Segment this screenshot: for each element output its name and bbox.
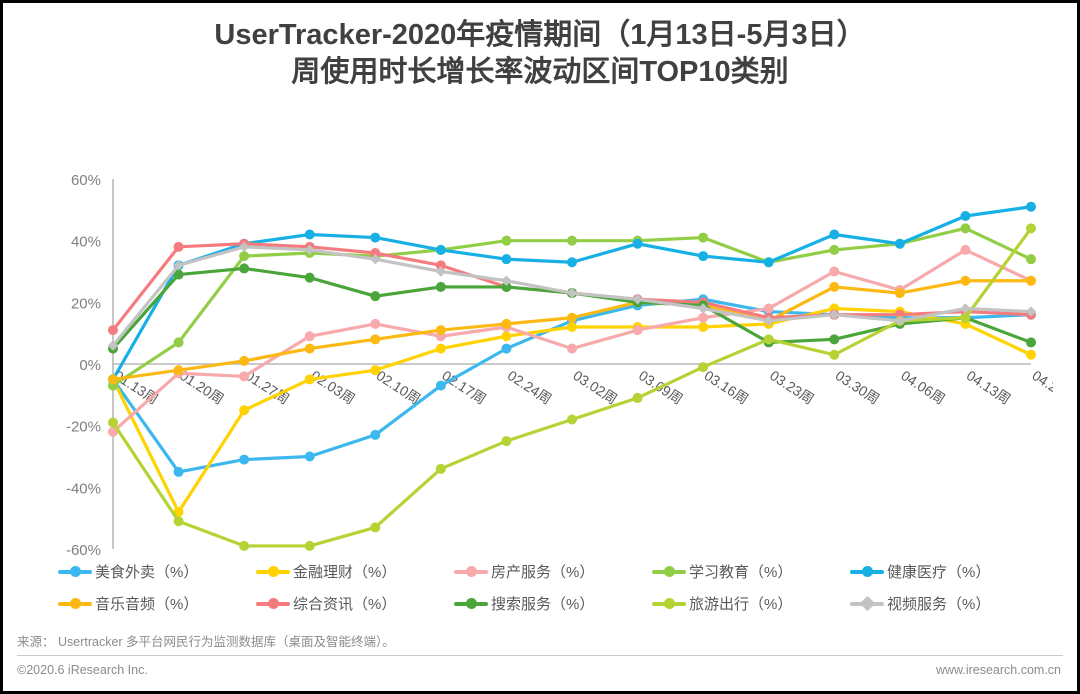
- x-axis-labels: 01.13周01.20周01.27周02.03周02.10周02.17周02.2…: [111, 367, 1053, 407]
- data-point: [108, 374, 118, 384]
- x-tick-label: 03.23周: [767, 367, 817, 407]
- data-point: [501, 331, 511, 341]
- legend-marker-icon: [454, 596, 488, 610]
- legend-sousuo-fuwu[interactable]: 搜索服务（%）: [454, 593, 652, 614]
- data-point: [305, 230, 315, 240]
- legend-yinyue-yinpin[interactable]: 音乐音频（%）: [58, 593, 256, 614]
- data-point: [567, 415, 577, 425]
- chart-legend: 美食外卖（%）金融理财（%）房产服务（%）学习教育（%）健康医疗（%）音乐音频（…: [58, 555, 1048, 619]
- x-tick-label: 03.02周: [570, 367, 620, 407]
- data-point: [567, 236, 577, 246]
- data-point: [108, 325, 118, 335]
- data-point: [501, 236, 511, 246]
- legend-label: 旅游出行（%）: [689, 593, 792, 614]
- data-point: [829, 230, 839, 240]
- y-tick-label: 40%: [71, 234, 101, 251]
- legend-marker-icon: [256, 564, 290, 578]
- y-tick-label: -40%: [66, 480, 101, 497]
- y-tick-label: 20%: [71, 295, 101, 312]
- data-point: [960, 223, 970, 233]
- legend-label: 搜索服务（%）: [491, 593, 594, 614]
- data-point: [829, 350, 839, 360]
- data-point: [1026, 223, 1036, 233]
- data-point: [895, 239, 905, 249]
- legend-label: 房产服务（%）: [491, 561, 594, 582]
- data-point: [698, 251, 708, 261]
- data-point: [305, 344, 315, 354]
- data-point: [305, 374, 315, 384]
- legend-marker-icon: [850, 596, 884, 610]
- legend-label: 音乐音频（%）: [95, 593, 198, 614]
- data-point: [370, 430, 380, 440]
- data-point: [305, 541, 315, 551]
- legend-fangchan-fuwu[interactable]: 房产服务（%）: [454, 561, 652, 582]
- chart-frame: UserTracker-2020年疫情期间（1月13日-5月3日） 周使用时长增…: [0, 0, 1080, 694]
- data-point: [370, 334, 380, 344]
- data-point: [436, 325, 446, 335]
- data-point: [239, 263, 249, 273]
- x-tick-label: 02.10周: [374, 367, 424, 407]
- website-link[interactable]: www.iresearch.com.cn: [936, 663, 1061, 677]
- data-point: [1026, 337, 1036, 347]
- legend-marker-icon: [652, 564, 686, 578]
- data-point: [960, 276, 970, 286]
- data-point: [698, 322, 708, 332]
- data-point: [436, 464, 446, 474]
- y-tick-label: -20%: [66, 419, 101, 436]
- data-point: [501, 319, 511, 329]
- data-point: [305, 331, 315, 341]
- legend-label: 金融理财（%）: [293, 561, 396, 582]
- data-point: [1026, 202, 1036, 212]
- x-tick-label: 03.30周: [833, 367, 883, 407]
- data-point: [567, 322, 577, 332]
- data-point: [698, 313, 708, 323]
- data-point: [829, 334, 839, 344]
- data-point: [633, 393, 643, 403]
- data-point: [829, 245, 839, 255]
- data-point: [633, 239, 643, 249]
- legend-label: 视频服务（%）: [887, 593, 990, 614]
- data-point: [764, 257, 774, 267]
- legend-marker-icon: [850, 564, 884, 578]
- copyright-note: ©2020.6 iResearch Inc.: [17, 663, 148, 677]
- data-point: [174, 337, 184, 347]
- data-point: [305, 273, 315, 283]
- legend-jinrong-licai[interactable]: 金融理财（%）: [256, 561, 454, 582]
- data-point: [501, 344, 511, 354]
- data-point: [567, 344, 577, 354]
- legend-zonghe-zixun[interactable]: 综合资讯（%）: [256, 593, 454, 614]
- data-point: [370, 291, 380, 301]
- data-point: [108, 418, 118, 428]
- footer-divider: [17, 655, 1063, 656]
- data-point: [239, 371, 249, 381]
- data-point: [436, 381, 446, 391]
- x-tick-label: 04.06周: [898, 367, 948, 407]
- legend-lvyou-chuxing[interactable]: 旅游出行（%）: [652, 593, 850, 614]
- legend-marker-icon: [652, 596, 686, 610]
- data-point: [239, 356, 249, 366]
- data-point: [501, 436, 511, 446]
- y-tick-label: 60%: [71, 172, 101, 189]
- data-point: [1026, 276, 1036, 286]
- legend-shipin-fuwu[interactable]: 视频服务（%）: [850, 593, 1048, 614]
- data-point: [960, 211, 970, 221]
- data-point: [436, 344, 446, 354]
- y-tick-label: 0%: [79, 357, 101, 374]
- legend-meishi-waimai[interactable]: 美食外卖（%）: [58, 561, 256, 582]
- data-point: [633, 325, 643, 335]
- data-point: [174, 516, 184, 526]
- x-tick-label: 04.20周: [1029, 367, 1053, 407]
- data-point: [960, 313, 970, 323]
- data-point: [698, 233, 708, 243]
- data-point: [305, 452, 315, 462]
- data-point: [764, 304, 774, 314]
- legend-marker-icon: [454, 564, 488, 578]
- data-point: [370, 365, 380, 375]
- data-point: [239, 251, 249, 261]
- data-point: [1026, 350, 1036, 360]
- data-point: [239, 541, 249, 551]
- data-point: [567, 313, 577, 323]
- data-point: [567, 288, 577, 298]
- data-point: [895, 288, 905, 298]
- legend-label: 健康医疗（%）: [887, 561, 990, 582]
- x-tick-label: 04.13周: [964, 367, 1014, 407]
- data-point: [960, 245, 970, 255]
- legend-marker-icon: [58, 564, 92, 578]
- page-title: UserTracker-2020年疫情期间（1月13日-5月3日） 周使用时长增…: [3, 17, 1077, 91]
- legend-label: 美食外卖（%）: [95, 561, 198, 582]
- x-tick-label: 03.16周: [702, 367, 752, 407]
- data-point: [829, 282, 839, 292]
- data-point: [1026, 254, 1036, 264]
- data-point: [698, 362, 708, 372]
- x-tick-label: 02.24周: [505, 367, 555, 407]
- data-point: [567, 257, 577, 267]
- data-point: [239, 405, 249, 415]
- series-line: [108, 304, 1036, 518]
- data-point: [370, 522, 380, 532]
- legend-marker-icon: [58, 596, 92, 610]
- data-point: [174, 365, 184, 375]
- chart-svg: 60%40%20%0%-20%-40%-60% 01.13周01.20周01.2…: [33, 153, 1053, 558]
- data-point: [174, 242, 184, 252]
- data-point: [436, 282, 446, 292]
- series-line: [108, 223, 1036, 551]
- legend-label: 综合资讯（%）: [293, 593, 396, 614]
- data-point: [239, 455, 249, 465]
- data-point: [829, 267, 839, 277]
- data-point: [370, 233, 380, 243]
- data-point: [764, 334, 774, 344]
- legend-xuexi-jiaoyu[interactable]: 学习教育（%）: [652, 561, 850, 582]
- legend-marker-icon: [256, 596, 290, 610]
- source-note: 来源： Usertracker 多平台网民行为监测数据库（桌面及智能终端）。: [17, 631, 395, 650]
- data-point: [174, 467, 184, 477]
- legend-jiankang-yiliao[interactable]: 健康医疗（%）: [850, 561, 1048, 582]
- legend-label: 学习教育（%）: [689, 561, 792, 582]
- data-point: [436, 245, 446, 255]
- data-point: [501, 254, 511, 264]
- line-chart: 60%40%20%0%-20%-40%-60% 01.13周01.20周01.2…: [33, 153, 1053, 558]
- data-point: [370, 319, 380, 329]
